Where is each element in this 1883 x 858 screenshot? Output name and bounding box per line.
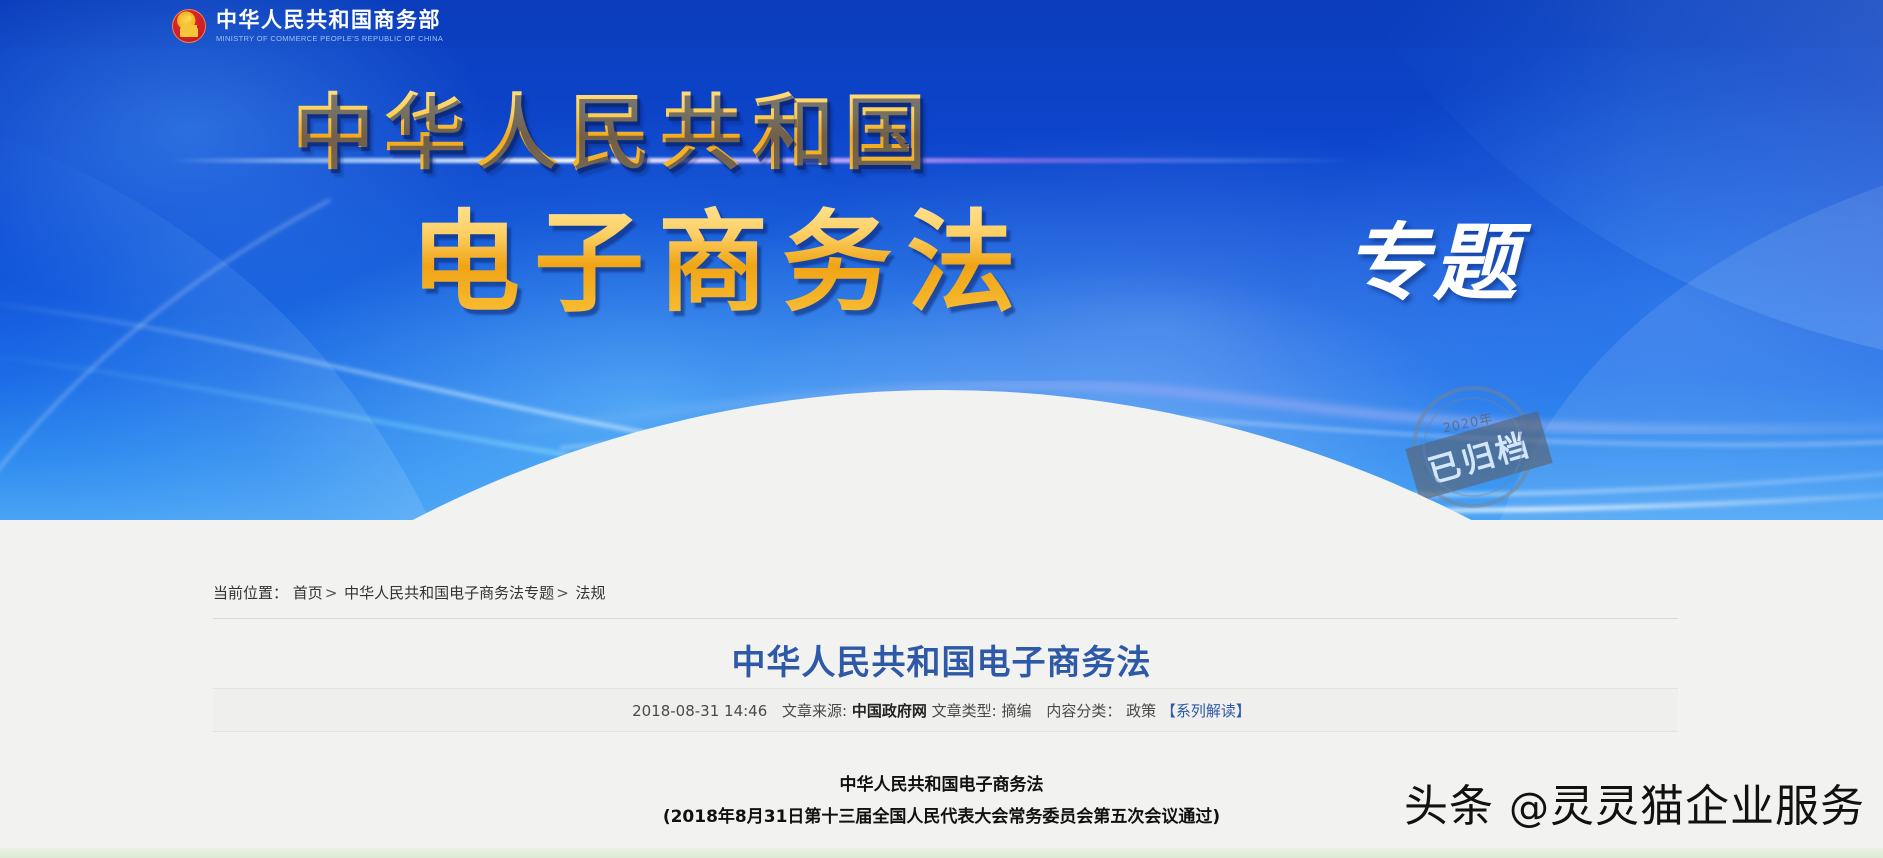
site-banner: 中华人民共和国 电子商务法 专题 2020年 已归档 ★ 中华人民共和国商务部 … bbox=[0, 0, 1883, 520]
meta-type-value: 摘编 bbox=[1002, 702, 1032, 720]
article-meta: 2018-08-31 14:46 文章来源: 中国政府网 文章类型: 摘编 内容… bbox=[0, 700, 1883, 721]
banner-headline-suffix: 专题 bbox=[1345, 196, 1521, 317]
site-logo-en: MINISTRY OF COMMERCE PEOPLE'S REPUBLIC O… bbox=[216, 34, 443, 43]
breadcrumb-separator: > bbox=[325, 584, 338, 602]
page-root: 中华人民共和国 电子商务法 专题 2020年 已归档 ★ 中华人民共和国商务部 … bbox=[0, 0, 1883, 858]
bottom-accent-strip bbox=[0, 848, 1883, 858]
meta-type-label: 文章类型: bbox=[932, 702, 997, 720]
breadcrumb: 当前位置： 首页> 中华人民共和国电子商务法专题> 法规 bbox=[213, 582, 606, 603]
national-emblem-icon: ★ bbox=[172, 9, 206, 43]
breadcrumb-item-current[interactable]: 法规 bbox=[576, 584, 606, 602]
banner-headline-line2: 电子商务法 bbox=[410, 173, 1030, 333]
emblem-gate-shape bbox=[180, 28, 198, 37]
breadcrumb-prefix: 当前位置： bbox=[213, 584, 288, 602]
watermark-brand: 头条 bbox=[1404, 781, 1494, 832]
site-logo-cn: 中华人民共和国商务部 bbox=[216, 9, 443, 31]
title-divider bbox=[213, 618, 1678, 619]
breadcrumb-item-home[interactable]: 首页 bbox=[293, 584, 323, 602]
meta-category-value: 政策 bbox=[1126, 702, 1156, 720]
meta-source-label: 文章来源: bbox=[782, 702, 847, 720]
breadcrumb-separator: > bbox=[556, 584, 569, 602]
emblem-star-glyph: ★ bbox=[184, 14, 194, 25]
meta-source-value: 中国政府网 bbox=[852, 702, 927, 720]
meta-datetime: 2018-08-31 14:46 bbox=[632, 702, 767, 720]
breadcrumb-item-topic[interactable]: 中华人民共和国电子商务法专题 bbox=[344, 584, 554, 602]
page-title: 中华人民共和国电子商务法 bbox=[0, 635, 1883, 684]
series-interpretation-link[interactable]: 【系列解读】 bbox=[1161, 702, 1251, 720]
meta-category-label: 内容分类： bbox=[1046, 702, 1121, 720]
site-logo[interactable]: ★ 中华人民共和国商务部 MINISTRY OF COMMERCE PEOPLE… bbox=[172, 6, 443, 46]
archived-stamp-year: 2020年 bbox=[1410, 401, 1525, 443]
watermark: 头条 @灵灵猫企业服务 bbox=[1404, 770, 1865, 834]
banner-headline-line1: 中华人民共和国 bbox=[292, 66, 936, 185]
site-logo-text: 中华人民共和国商务部 MINISTRY OF COMMERCE PEOPLE'S… bbox=[216, 9, 443, 42]
watermark-at-symbol: @ bbox=[1509, 785, 1550, 831]
watermark-account: 灵灵猫企业服务 bbox=[1550, 781, 1865, 832]
